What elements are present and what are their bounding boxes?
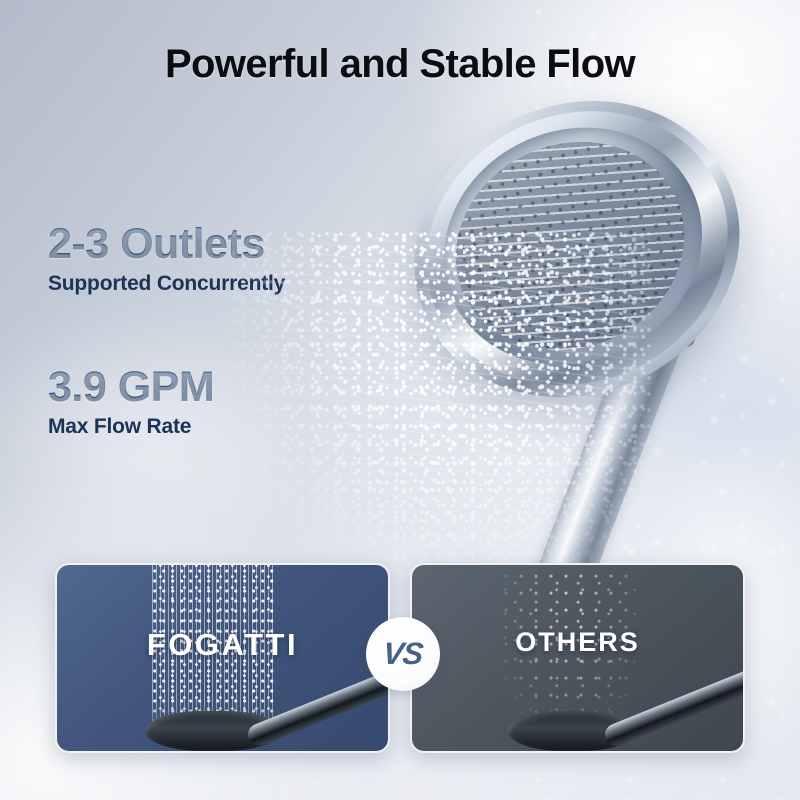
stat-block-outlets: 2-3 Outlets Supported Concurrently xyxy=(48,222,285,296)
steam-mist xyxy=(0,300,280,600)
nozzle-jets xyxy=(438,118,702,375)
brand-label-others: OTHERS xyxy=(412,627,743,658)
showerhead-body xyxy=(389,67,765,432)
vs-badge: VS xyxy=(366,617,440,691)
comparison-panel-fogatti: FOGATTI xyxy=(55,563,390,753)
brand-label-fogatti: FOGATTI xyxy=(57,627,388,663)
product-feature-banner: Powerful and Stable Flow 2-3 Outlets Sup… xyxy=(0,0,800,800)
showerhead-collar xyxy=(625,289,705,351)
stat-value-outlets: 2-3 Outlets xyxy=(48,222,285,267)
page-title: Powerful and Stable Flow xyxy=(0,42,800,87)
stat-caption-outlets: Supported Concurrently xyxy=(48,272,285,296)
stat-block-flow-rate: 3.9 GPM Max Flow Rate xyxy=(48,365,214,439)
showerhead-nozzle-face xyxy=(438,118,702,375)
showerhead-inner-ring xyxy=(424,100,723,391)
showerhead-chrome-rim xyxy=(403,79,751,416)
steam-mist xyxy=(430,60,800,390)
stat-caption-flow-rate: Max Flow Rate xyxy=(48,415,214,439)
showerhead-product-image xyxy=(398,104,758,484)
vs-label: VS xyxy=(381,636,424,672)
comparison-panel-others: OTHERS xyxy=(410,563,745,753)
stat-value-flow-rate: 3.9 GPM xyxy=(48,365,214,410)
